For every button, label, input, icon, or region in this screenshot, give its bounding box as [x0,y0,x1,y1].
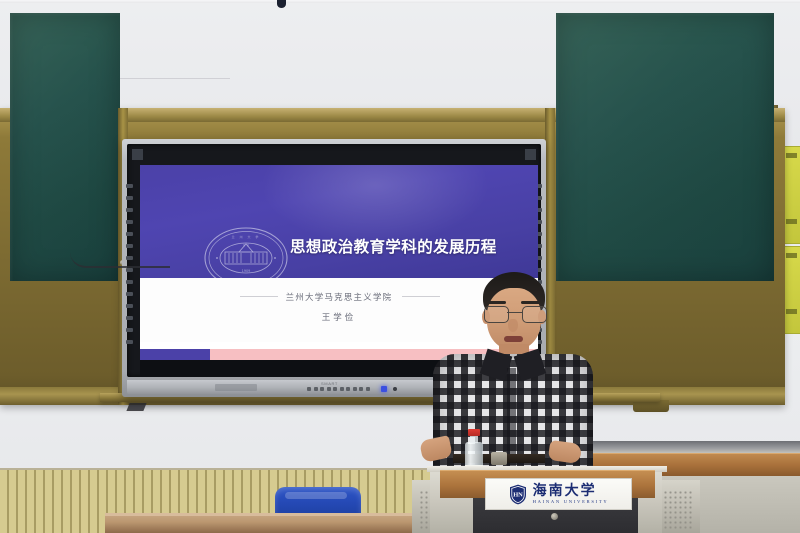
slide-accent-stripe-blue [140,349,210,360]
blackboard-panel-right [556,13,774,281]
blackboard-panel-left [10,13,120,281]
plaque-text-block: 海南大学 HAINAN UNIVERSITY [533,484,609,505]
board-sheen [10,13,120,281]
presenter [425,272,600,477]
classroom-scene: 1909 LANZHOU UNIVERSITY 兰 州 大 学 思想政治教育学科… [0,0,800,533]
front-desk [105,513,435,533]
display-vent-left [215,384,257,391]
belt-buckle-icon [491,452,507,465]
lens-right [522,306,547,323]
display-brand-label: SMART [321,381,338,386]
power-led-icon [381,386,387,392]
slide-header-band [140,165,538,278]
notice-mark [786,219,797,224]
ceiling-line [0,0,800,3]
hainan-university-plaque: HN 海南大学 HAINAN UNIVERSITY [485,478,632,510]
screen-glare [260,165,490,245]
notice-mark [786,253,797,258]
hainan-university-shield-icon: HN [509,484,527,505]
bottle-cap [468,429,480,436]
bezel-corner-icon [525,149,536,160]
desk-edge [105,513,435,516]
bottle-neck [470,436,478,443]
slide-title: 思想政治教育学科的发展历程 [290,235,538,257]
podium-lock-icon[interactable] [551,513,558,520]
ceiling-sensor-icon [277,0,286,8]
svg-text:HN: HN [513,491,523,498]
chair-highlight [285,492,347,499]
ir-receiver-icon [393,387,397,391]
svg-text:1909: 1909 [242,269,251,273]
chalk-eraser [126,403,146,411]
bezel-corner-icon [132,149,143,160]
display-control-keys[interactable] [307,387,379,392]
notice-mark [786,309,797,314]
lens-left [484,306,509,323]
presenter-nose [508,319,518,332]
wall-notice-lower [783,246,800,334]
wall-scuff [110,78,230,79]
notice-mark [786,153,797,158]
display-cable [70,252,170,268]
glasses-bridge [507,312,522,313]
wall-notice-upper [783,146,800,244]
svg-text:兰 州 大 学: 兰 州 大 学 [232,234,261,239]
presenter-mouth [504,336,523,342]
presenter-brow-left [486,301,506,304]
board-sheen [556,13,774,281]
plaque-name-en: HAINAN UNIVERSITY [533,500,609,505]
presenter-brow-right [521,301,541,304]
plaque-name-cn: 海南大学 [533,484,609,498]
